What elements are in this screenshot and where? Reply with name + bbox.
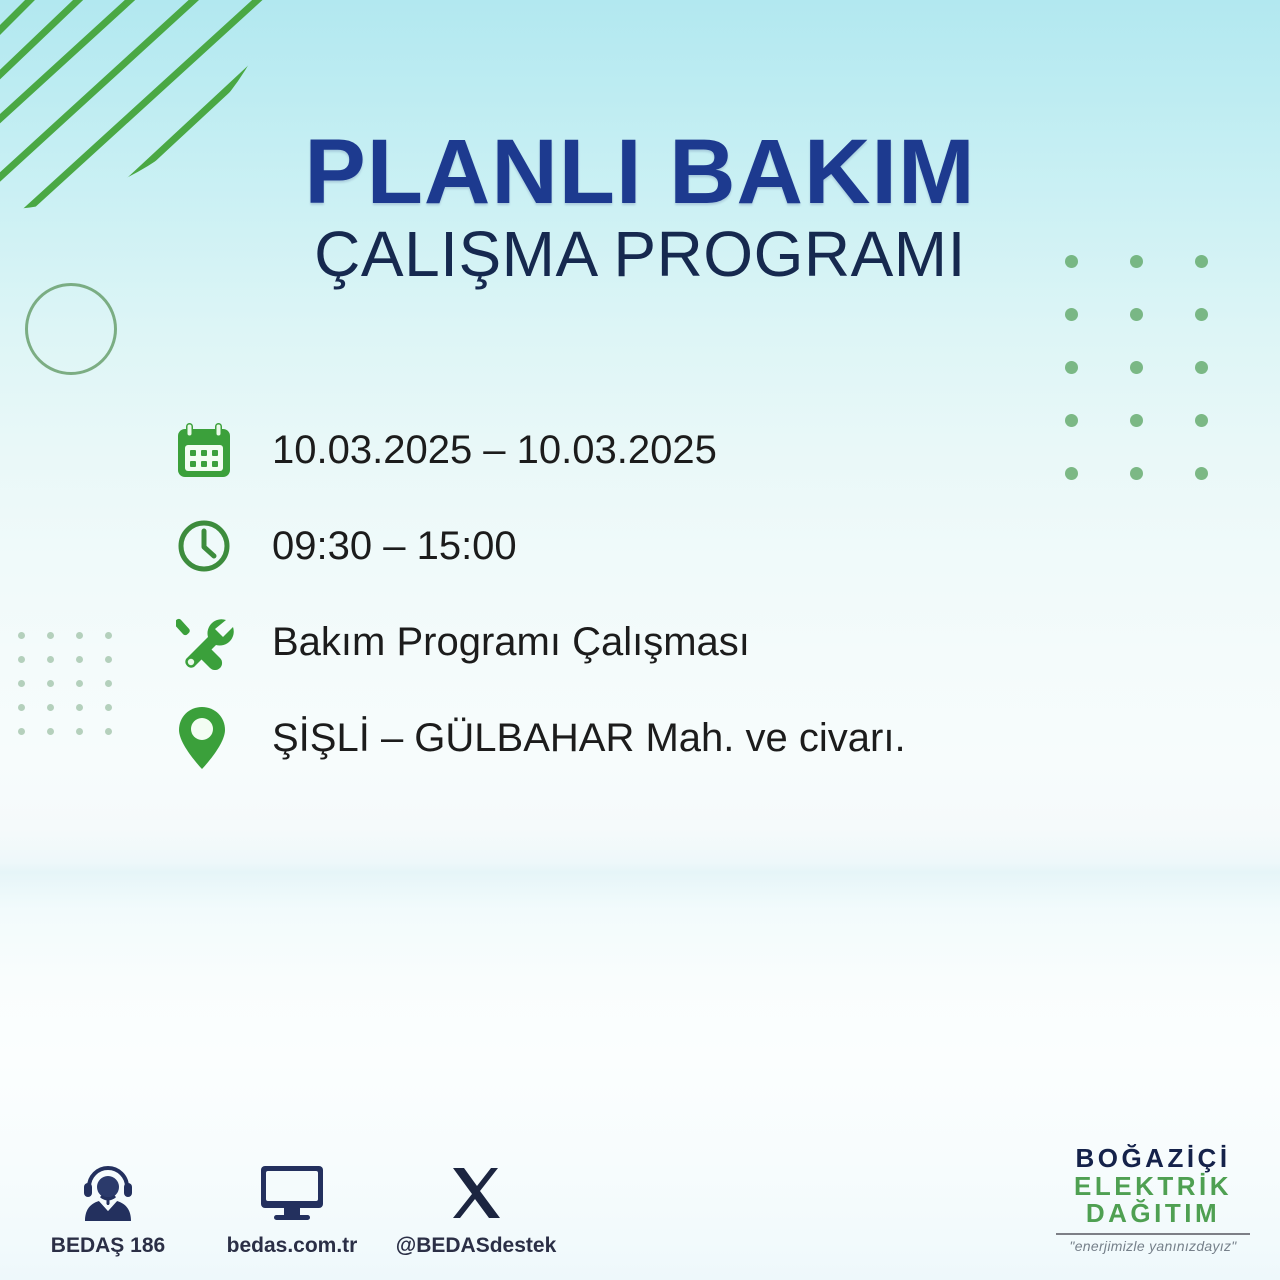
brand-line-elektrik: ELEKTRİK [1048,1173,1258,1201]
info-row-location: ŞİŞLİ – GÜLBAHAR Mah. ve civarı. [176,690,1136,786]
clock-icon [176,511,240,581]
brand-divider [1056,1233,1250,1235]
dot-grid-left-decoration [18,632,134,752]
monitor-icon [258,1162,326,1224]
info-text-location: ŞİŞLİ – GÜLBAHAR Mah. ve civarı. [272,716,906,760]
contact-website[interactable]: bedas.com.tr [232,1162,352,1258]
contact-label-phone: BEDAŞ 186 [51,1234,165,1258]
poster-heading-block: PLANLI BAKIM ÇALIŞMA PROGRAMI [0,128,1280,286]
info-text-time: 09:30 – 15:00 [272,524,517,568]
brand-line-dagitim: DAĞITIM [1048,1200,1258,1228]
tools-icon [176,607,240,677]
contact-x-account[interactable]: @BEDASdestek [416,1162,536,1258]
footer-contact-bar: BEDAŞ 186 bedas.com.tr @BEDASdestek [48,1162,536,1258]
brand-tagline: "enerjimizle yanınızdayız" [1048,1238,1258,1254]
info-row-worktype: Bakım Programı Çalışması [176,594,1136,690]
poster-canvas: PLANLI BAKIM ÇALIŞMA PROGRAMI [0,0,1280,1280]
page-title: PLANLI BAKIM [0,128,1280,216]
calendar-icon [176,415,240,485]
bedas-logo: BOĞAZİÇİ ELEKTRİK DAĞITIM "enerjimizle y… [1048,1145,1258,1254]
page-subtitle: ÇALIŞMA PROGRAMI [0,222,1280,286]
x-twitter-icon [447,1162,505,1224]
outage-info-list: 10.03.2025 – 10.03.2025 09:30 – 15:00 [176,402,1136,786]
info-text-date: 10.03.2025 – 10.03.2025 [272,428,717,472]
circle-outline-decoration [25,283,117,375]
info-row-time: 09:30 – 15:00 [176,498,1136,594]
contact-label-website: bedas.com.tr [227,1234,358,1258]
info-text-worktype: Bakım Programı Çalışması [272,620,750,664]
info-row-date: 10.03.2025 – 10.03.2025 [176,402,1136,498]
call-center-agent-icon [77,1162,139,1224]
contact-phone[interactable]: BEDAŞ 186 [48,1162,168,1258]
contact-label-x-account: @BEDASdestek [396,1234,557,1258]
location-pin-icon [176,703,240,773]
brand-line-bogazici: BOĞAZİÇİ [1048,1145,1258,1173]
